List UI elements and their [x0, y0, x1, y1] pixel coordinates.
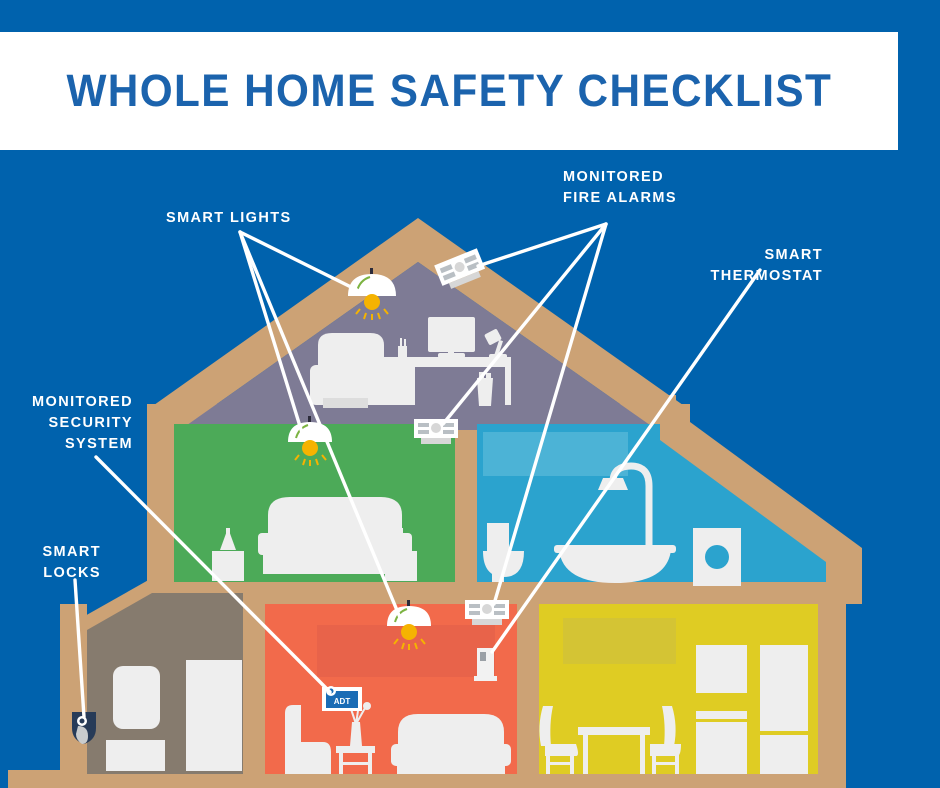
wall-garage-living: [243, 604, 265, 774]
wall-right-lower: [818, 604, 846, 774]
callout-monitored-fire-alarms: MONITORED FIRE ALARMS: [563, 167, 677, 209]
kitchen-chair-left-brace: [546, 762, 574, 765]
kitchen-table-leg-l: [583, 734, 588, 774]
kitchen-counter: [696, 711, 747, 719]
title-band: WHOLE HOME SAFETY CHECKLIST: [0, 32, 898, 150]
callout-monitored-security-system: MONITORED SECURITY SYSTEM: [0, 392, 133, 455]
attic-trash-paper2: [486, 373, 491, 379]
lock-keyhole-inner: [80, 719, 85, 724]
nightstand-right: [385, 551, 417, 581]
nightstand-right-lamp-neck: [399, 528, 403, 550]
fire-alarm-base: [472, 619, 502, 625]
kitchen-fridge-bottom: [760, 735, 808, 774]
kitchen-lower-cabinet: [696, 722, 747, 774]
fire-alarm-base: [421, 438, 451, 444]
living-sofa-seat: [391, 744, 511, 766]
security-panel-brand: ADT: [334, 697, 351, 706]
thermostat-base: [474, 676, 497, 681]
attic-monitor-screen: [428, 317, 475, 352]
attic-pen-1: [400, 338, 402, 347]
attic-monitor-foot: [438, 353, 465, 358]
callout-smart-thermostat: SMART THERMOSTAT: [623, 245, 823, 287]
living-armchair-seat: [285, 742, 331, 774]
attic-trash-can: [477, 378, 493, 406]
thermostat-screen: [480, 652, 486, 661]
fire-alarm-indicator: [482, 604, 492, 614]
infographic-canvas: ADT WHOLE: [0, 0, 940, 788]
nightstand-left-lamp-neck: [226, 528, 230, 550]
kitchen-table-leg-r: [640, 734, 645, 774]
pendant-bulb: [302, 440, 318, 456]
attic-armchair-base: [323, 398, 368, 408]
attic-pen-cup: [398, 346, 407, 358]
page-title: WHOLE HOME SAFETY CHECKLIST: [66, 65, 832, 117]
wall-bedroom-bathroom: [455, 424, 477, 582]
kitchen-chair-right-brace: [652, 762, 679, 765]
garage-panel-rounded: [113, 666, 160, 729]
wall-living-kitchen: [517, 604, 539, 774]
attic-desk-leg: [505, 357, 511, 405]
kitchen-fridge-top: [760, 645, 808, 731]
leader-smart-lights-attic: [240, 232, 357, 290]
bathroom-wall-panel: [483, 432, 628, 476]
attic-pen-2: [404, 339, 406, 347]
wall-left-upper: [147, 404, 174, 604]
callout-smart-locks: SMART LOCKS: [0, 542, 101, 584]
pendant-bulb: [401, 624, 417, 640]
attic-desk-drawers: [378, 360, 415, 405]
living-side-table-top: [336, 746, 375, 753]
callout-smart-lights: SMART LIGHTS: [166, 208, 292, 229]
attic-armchair-arm-left: [310, 365, 324, 405]
garage-door-tall: [186, 660, 242, 771]
kitchen-table-top: [578, 727, 650, 735]
fire-alarm-indicator: [431, 423, 441, 433]
living-sofa-base: [397, 763, 505, 774]
living-vase-bud: [363, 702, 371, 710]
garage-bench: [106, 740, 165, 771]
living-vase: [350, 722, 362, 746]
bathtub-rim: [554, 545, 676, 553]
attic-armchair: [318, 333, 384, 405]
washing-machine-door: [705, 545, 729, 569]
bed-headboard: [268, 497, 402, 537]
living-side-table-brace: [339, 762, 372, 765]
smart-thermostat-device[interactable]: [474, 648, 497, 681]
pendant-bulb: [364, 294, 380, 310]
kitchen-upper-cabinet: [696, 645, 747, 693]
kitchen-wall-panel: [563, 618, 676, 664]
